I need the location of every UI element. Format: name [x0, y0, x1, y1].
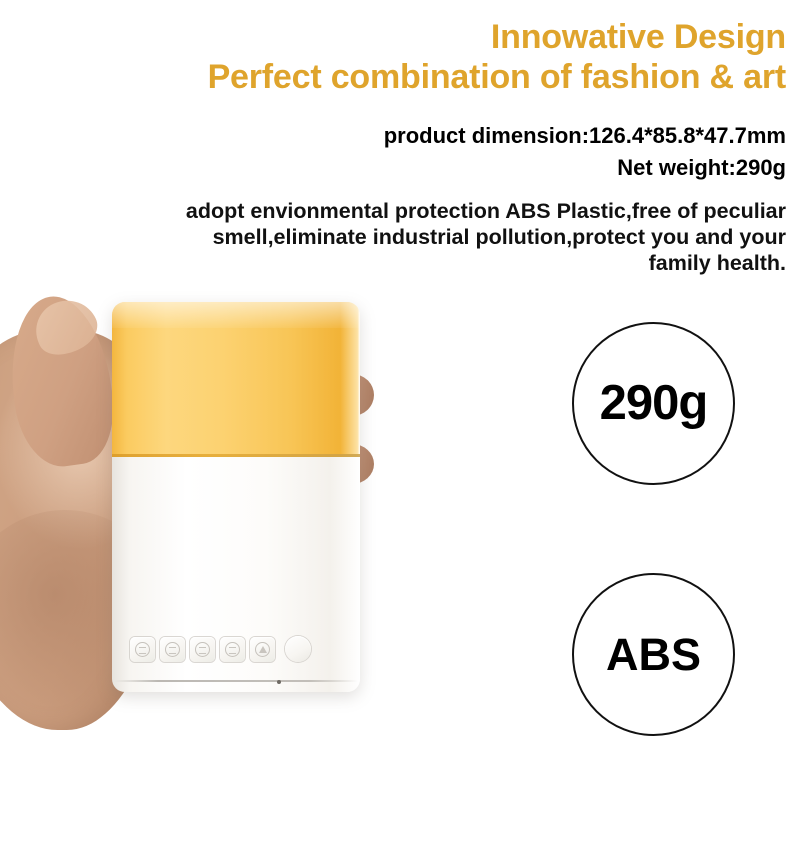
device-bottom-edge [114, 680, 358, 682]
description-line-2: smell,eliminate industrial pollution,pro… [2, 224, 786, 250]
material-badge-label: ABS [606, 632, 701, 677]
weight-badge-label: 290g [600, 379, 708, 428]
description-line-1: adopt envionmental protection ABS Plasti… [2, 198, 786, 224]
device-control-panel [130, 636, 311, 662]
headline-primary: Innowative Design [6, 18, 786, 56]
thumb-nail [27, 290, 105, 363]
round-button[interactable] [285, 636, 311, 662]
fan-circle-icon [165, 642, 180, 657]
spec-dimension: product dimension:126.4*85.8*47.7mm [6, 120, 786, 152]
triangle-circle-icon [255, 642, 270, 657]
power-circle-icon [135, 642, 150, 657]
power-button[interactable] [130, 637, 155, 662]
mode-button[interactable] [190, 637, 215, 662]
material-badge: ABS [572, 573, 735, 736]
product-photo [0, 270, 470, 780]
wave-button[interactable] [220, 637, 245, 662]
description-paragraph: adopt envionmental protection ABS Plasti… [2, 198, 786, 277]
fan-button[interactable] [160, 637, 185, 662]
spec-net-weight: Net weight:290g [6, 152, 786, 184]
headline-block: Innowative Design Perfect combination of… [6, 18, 786, 96]
timer-button[interactable] [250, 637, 275, 662]
device-gloss-highlight [112, 302, 360, 328]
mode-circle-icon [195, 642, 210, 657]
product-device [112, 302, 360, 692]
spec-block: product dimension:126.4*85.8*47.7mm Net … [6, 120, 786, 184]
led-indicator-icon [277, 680, 281, 684]
product-marketing-page: Innowative Design Perfect combination of… [0, 0, 800, 853]
headline-secondary: Perfect combination of fashion & art [6, 58, 786, 96]
weight-badge: 290g [572, 322, 735, 485]
device-orange-panel [112, 302, 360, 457]
wave-circle-icon [225, 642, 240, 657]
